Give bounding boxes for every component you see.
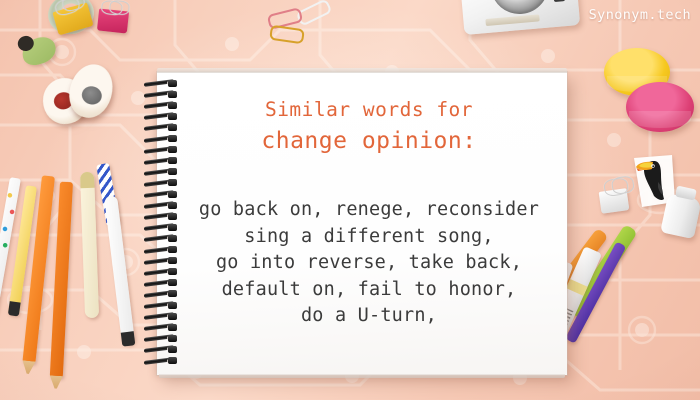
spiral-ring	[144, 102, 177, 109]
synonym-line: go into reverse, take back,	[181, 250, 557, 277]
synonym-line: do a U-turn,	[181, 303, 557, 330]
spiral-ring	[144, 291, 177, 298]
spiral-ring	[144, 80, 177, 87]
notepad: Similar words for change opinion: go bac…	[157, 72, 567, 375]
spiral-ring	[144, 235, 177, 242]
macaron-pink	[626, 82, 694, 132]
spiral-ring	[144, 202, 177, 209]
spiral-ring	[144, 302, 177, 309]
glue-tube	[660, 193, 700, 239]
spiral-ring	[144, 247, 177, 254]
spiral-ring	[144, 335, 177, 342]
spiral-ring	[144, 313, 177, 320]
spiral-ring	[144, 258, 177, 265]
heading-similar-words-for: Similar words for	[181, 99, 557, 121]
synonym-list: go back on, renege, reconsidersing a dif…	[181, 197, 557, 330]
spiral-ring	[144, 191, 177, 198]
spiral-ring	[144, 324, 177, 331]
spiral-ring	[144, 113, 177, 120]
binder-clip-pink	[97, 8, 129, 33]
heading-search-term: change opinion:	[181, 128, 557, 154]
spiral-ring	[144, 213, 177, 220]
synonym-line: default on, fail to honor,	[181, 277, 557, 304]
spiral-ring	[144, 224, 177, 231]
spiral-ring	[144, 91, 177, 98]
spiral-ring	[144, 180, 177, 187]
spiral-ring	[144, 169, 177, 176]
spiral-ring	[144, 269, 177, 276]
desk-scene: Similar words for change opinion: go bac…	[0, 0, 700, 400]
spiral-binding	[144, 80, 178, 368]
camera-lens-icon	[488, 0, 551, 16]
synonym-line: sing a different song,	[181, 224, 557, 251]
spiral-ring	[144, 124, 177, 131]
notepad-content: Similar words for change opinion: go bac…	[181, 72, 557, 375]
spiral-ring	[144, 358, 177, 365]
spiral-ring	[144, 346, 177, 353]
spiral-ring	[144, 158, 177, 165]
camera-shutter-button	[553, 0, 565, 2]
spiral-ring	[144, 136, 177, 143]
spiral-ring	[144, 280, 177, 287]
binder-clip-white	[599, 188, 630, 214]
synonym-line: go back on, renege, reconsider	[181, 197, 557, 224]
spiral-ring	[144, 147, 177, 154]
site-watermark: Synonym.tech	[589, 7, 691, 23]
